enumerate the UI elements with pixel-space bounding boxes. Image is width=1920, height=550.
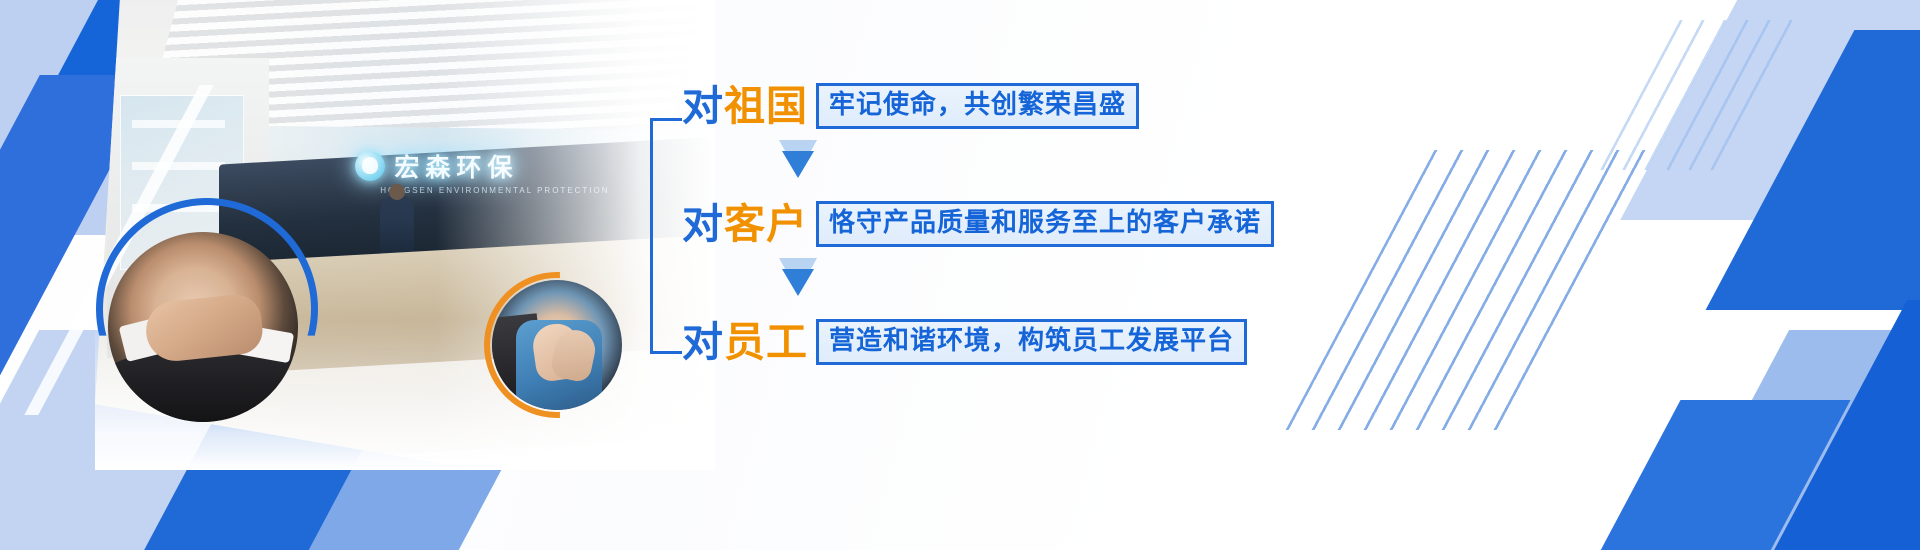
values-list: 对祖国 牢记使命，共创繁荣昌盛 对客户 恪守产品质量和服务至上的客户承诺 [650,78,1370,398]
values-bracket [650,118,682,354]
values-rows: 对祖国 牢记使命，共创繁荣昌盛 对客户 恪守产品质量和服务至上的客户承诺 [682,78,1370,370]
value-label-customer: 对客户 [682,204,808,245]
value-row-customer: 对客户 恪守产品质量和服务至上的客户承诺 [682,196,1370,252]
value-target: 客户 [724,200,808,248]
value-row-employee: 对员工 营造和谐环境，构筑员工发展平台 [682,314,1370,370]
value-target: 祖国 [724,82,808,130]
down-arrow-cap [779,140,817,151]
company-values-banner: 宏森环保 HONGSEN ENVIRONMENTAL PROTECTION [0,0,1920,550]
connector-2 [682,252,1370,314]
value-label-employee: 对员工 [682,322,808,363]
value-prefix: 对 [682,200,724,248]
value-target: 员工 [724,318,808,366]
value-row-country: 对祖国 牢记使命，共创繁荣昌盛 [682,78,1370,134]
value-label-country: 对祖国 [682,86,808,127]
value-prefix: 对 [682,318,724,366]
connector-1 [682,134,1370,196]
down-arrow-cap [779,258,817,269]
value-prefix: 对 [682,82,724,130]
value-statement-country: 牢记使命，共创繁荣昌盛 [816,83,1139,129]
down-arrow-tip [782,269,814,296]
value-statement-customer: 恪守产品质量和服务至上的客户承诺 [816,201,1274,247]
value-statement-employee: 营造和谐环境，构筑员工发展平台 [816,319,1247,365]
down-arrow-tip [782,151,814,178]
